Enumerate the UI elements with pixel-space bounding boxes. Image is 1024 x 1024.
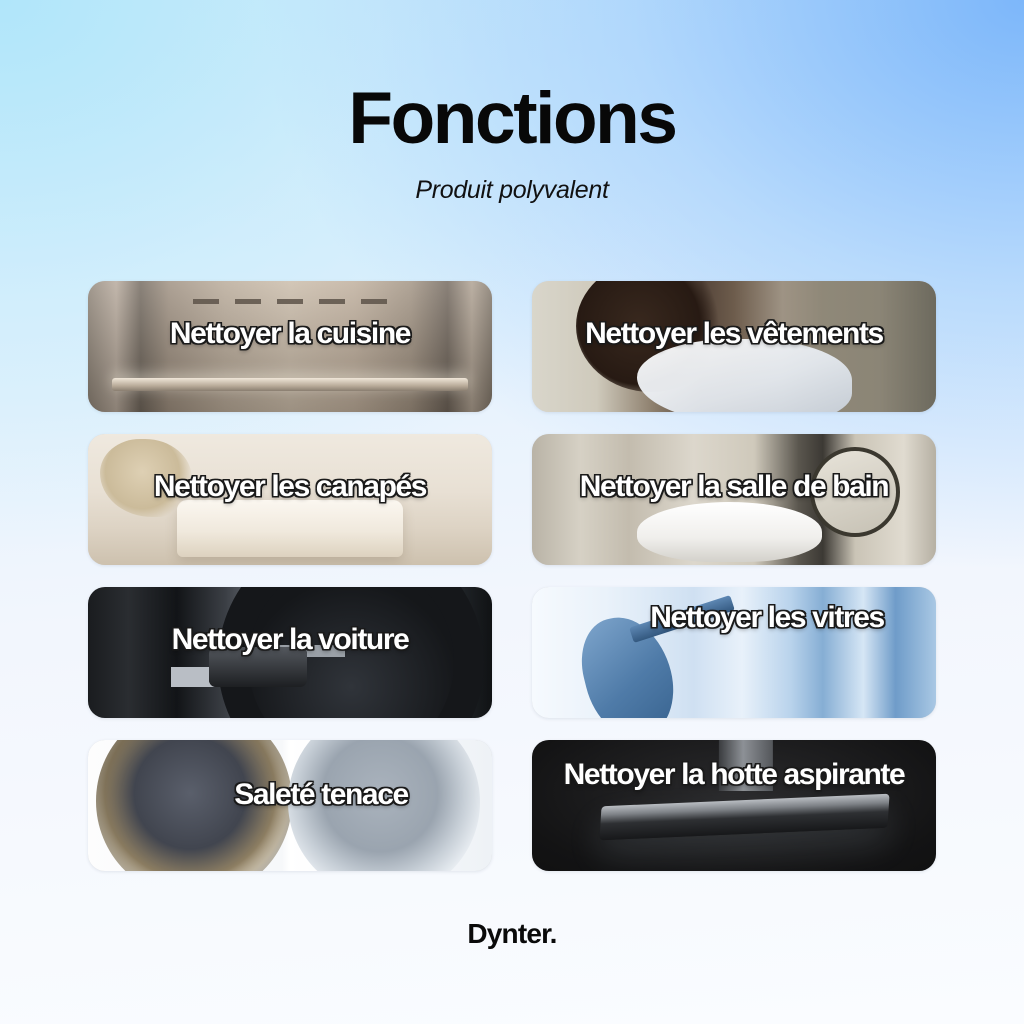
feature-card-kitchen[interactable]: Nettoyer la cuisine	[88, 281, 492, 412]
feature-card-label: Nettoyer la salle de bain	[532, 470, 936, 504]
feature-card-car[interactable]: Nettoyer la voiture	[88, 587, 492, 718]
feature-poster: Fonctions Produit polyvalent Nettoyer la…	[0, 0, 1024, 1024]
feature-card-tough-dirt[interactable]: Saleté tenace	[88, 740, 492, 871]
feature-card-label: Nettoyer la cuisine	[88, 317, 492, 351]
feature-card-label: Nettoyer la voiture	[88, 623, 492, 657]
feature-card-bathroom[interactable]: Nettoyer la salle de bain	[532, 434, 936, 565]
feature-card-label: Nettoyer la hotte aspirante	[532, 758, 936, 792]
feature-card-label: Nettoyer les vitres	[532, 601, 936, 635]
poster-footer: Dynter.	[0, 918, 1024, 950]
feature-card-clothes[interactable]: Nettoyer les vêtements	[532, 281, 936, 412]
page-title: Fonctions	[0, 0, 1024, 156]
page-subtitle: Produit polyvalent	[0, 156, 1024, 205]
feature-card-sofas[interactable]: Nettoyer les canapés	[88, 434, 492, 565]
feature-card-label: Nettoyer les vêtements	[532, 317, 936, 351]
feature-card-range-hood[interactable]: Nettoyer la hotte aspirante	[532, 740, 936, 871]
feature-card-label: Nettoyer les canapés	[88, 470, 492, 504]
poster-header: Fonctions Produit polyvalent	[0, 0, 1024, 205]
feature-card-windows[interactable]: Nettoyer les vitres	[532, 587, 936, 718]
feature-card-label: Saleté tenace	[88, 778, 492, 812]
feature-card-grid: Nettoyer la cuisine Nettoyer les vêtemen…	[88, 281, 936, 871]
brand-logo: Dynter.	[467, 918, 556, 949]
